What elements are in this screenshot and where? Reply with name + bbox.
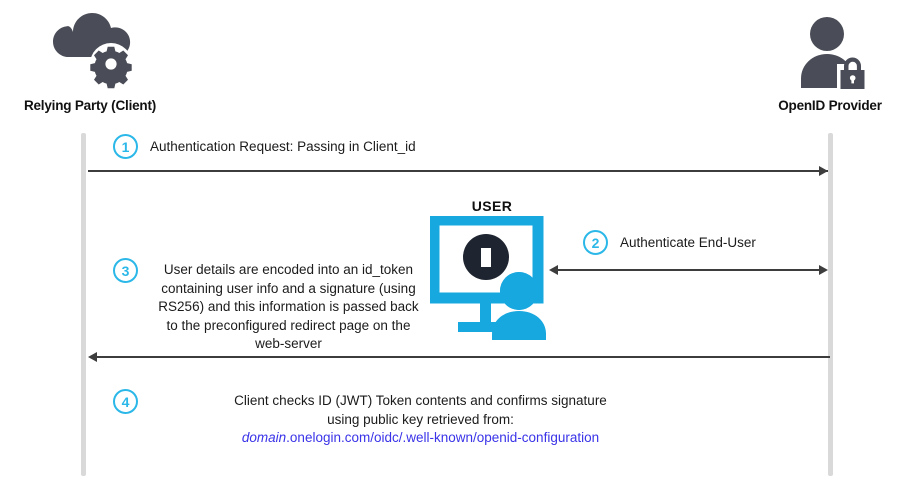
step-3-line-4: to the preconfigured redirect page on th… bbox=[146, 317, 431, 336]
url-domain-part: domain bbox=[242, 430, 286, 445]
step-text-1: Authentication Request: Passing in Clien… bbox=[150, 138, 570, 157]
step-3-line-2: containing user info and a signature (us… bbox=[146, 280, 431, 299]
step-3-line-3: RS256) and this information is passed ba… bbox=[146, 298, 431, 317]
padlock-in-circle-icon bbox=[463, 234, 509, 280]
person-lock-icon bbox=[740, 12, 900, 97]
step-badge-3: 3 bbox=[113, 258, 138, 283]
arrow-step-2 bbox=[558, 269, 820, 271]
step-4-line-1: Client checks ID (JWT) Token contents an… bbox=[148, 392, 693, 411]
step-1-line-1: Authentication Request: Passing in Clien… bbox=[150, 138, 570, 157]
arrow-step-1 bbox=[88, 170, 828, 172]
step-3-line-1: User details are encoded into an id_toke… bbox=[146, 261, 431, 280]
arrow-head-step-1-right bbox=[819, 166, 828, 176]
step-2-line-1: Authenticate End-User bbox=[620, 234, 850, 253]
step-number-3: 3 bbox=[122, 263, 130, 279]
user-label: USER bbox=[432, 198, 552, 214]
actor-label-relying-party: Relying Party (Client) bbox=[24, 98, 156, 113]
diagram-canvas: Relying Party (Client) OpenID Provider 1 bbox=[0, 0, 900, 497]
step-4-line-2: using public key retrieved from: bbox=[148, 411, 693, 430]
arrow-head-step-2-left bbox=[549, 265, 558, 275]
step-badge-2: 2 bbox=[583, 230, 608, 255]
cloud-gear-icon bbox=[0, 12, 180, 97]
step-badge-1: 1 bbox=[113, 134, 138, 159]
step-text-2: Authenticate End-User bbox=[620, 234, 850, 253]
arrow-head-step-3-left bbox=[88, 352, 97, 362]
step-number-2: 2 bbox=[592, 235, 600, 251]
step-3-line-5: web-server bbox=[146, 335, 431, 354]
arrow-step-3 bbox=[97, 356, 830, 358]
step-number-1: 1 bbox=[122, 139, 130, 155]
actor-relying-party: Relying Party (Client) bbox=[0, 12, 180, 115]
step-number-4: 4 bbox=[122, 394, 130, 410]
actor-label-openid-provider: OpenID Provider bbox=[778, 98, 882, 113]
url-rest-part: .onelogin.com/oidc/.well-known/openid-co… bbox=[286, 430, 599, 445]
arrow-head-step-2-right bbox=[819, 265, 828, 275]
lifeline-openid-provider bbox=[828, 133, 833, 476]
step-text-4: Client checks ID (JWT) Token contents an… bbox=[148, 392, 693, 448]
monitor-lock-person-icon bbox=[430, 216, 550, 349]
openid-configuration-url[interactable]: domain.onelogin.com/oidc/.well-known/ope… bbox=[148, 429, 693, 448]
lifeline-relying-party bbox=[81, 133, 86, 476]
actor-openid-provider: OpenID Provider bbox=[740, 12, 900, 115]
step-text-3: User details are encoded into an id_toke… bbox=[146, 261, 431, 354]
step-badge-4: 4 bbox=[113, 389, 138, 414]
